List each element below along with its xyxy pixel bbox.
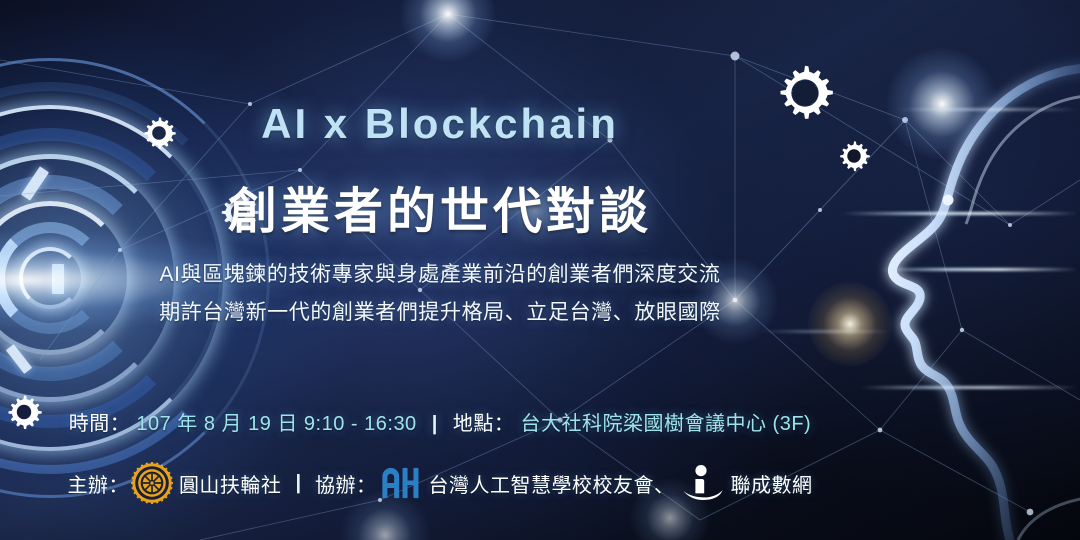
organizer-separator: | [295,472,301,495]
organizer-line: 主辦： [0,462,880,504]
banner-content: AI x Blockchain 創業者的世代對談 AI與區塊鍊的技術專家與身處產… [0,0,880,540]
subtitle-line-1: AI與區塊鍊的技術專家與身處產業前沿的創業者們深度交流 [0,258,880,288]
host-name: 圓山扶輪社 [179,469,282,498]
time-label: 時間： [69,413,131,435]
title-chinese: 創業者的世代對談 [0,172,880,243]
scan-streak [880,268,1078,271]
event-banner: AI x Blockchain 創業者的世代對談 AI與區塊鍊的技術專家與身處產… [0,0,1080,540]
event-info-line: 時間： 107 年 8 月 19 日 9:10 - 16:30 | 地點： 台大… [0,407,880,436]
place-value: 台大社科院梁國樹會議中心 (3F) [520,413,811,435]
scan-streak [896,108,1078,111]
coorganizer-name-1: 台灣人工智慧學校校友會、 [429,469,675,498]
coorganizer-name-2: 聯成數網 [731,469,813,498]
ai-academy-monogram-icon [379,462,421,504]
rotary-wheel-icon [131,462,173,504]
time-value: 107 年 8 月 19 日 9:10 - 16:30 [136,413,416,435]
subtitle-line-2: 期許台灣新一代的創業者們提升格局、立足台灣、放眼國際 [0,296,880,326]
scan-streak [860,386,1078,389]
place-label: 地點： [453,413,515,435]
host-label: 主辦： [67,469,129,498]
title-english: AI x Blockchain [0,100,880,148]
person-info-globe-icon [681,462,725,504]
coorganizer-label: 協辦： [315,469,377,498]
info-separator: | [432,413,438,436]
